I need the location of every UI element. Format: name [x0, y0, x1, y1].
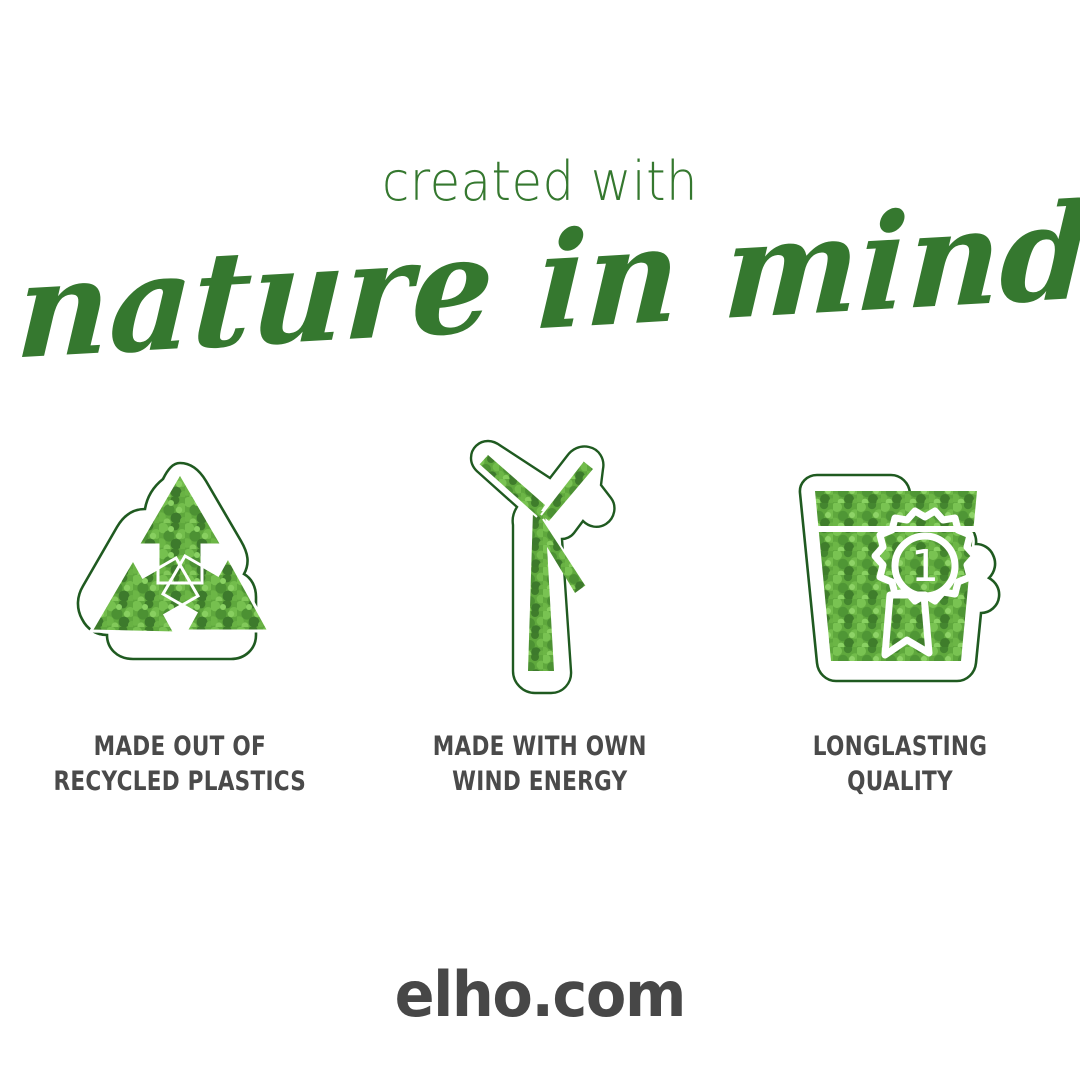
feature-wind-energy: MADE WITH OWN WIND ENERGY: [360, 430, 720, 799]
feature-row: MADE OUT OF RECYCLED PLASTICS: [0, 430, 1080, 850]
wind-turbine-art: [455, 430, 625, 710]
headline-block: created with nature in mind: [0, 155, 1080, 209]
feature-recycled-plastics: MADE OUT OF RECYCLED PLASTICS: [0, 430, 360, 799]
sustainability-banner: created with nature in mind: [0, 0, 1080, 1080]
feature-longlasting-quality: 1 LONGLASTING QUALITY: [720, 430, 1080, 799]
recycle-icon: [55, 445, 305, 695]
headline-script-wrap: nature in mind: [0, 207, 1080, 397]
wind-turbine-icon: [455, 435, 625, 705]
headline-created-with: created with: [43, 155, 1037, 209]
badge-number: 1: [911, 541, 939, 592]
feature-caption-recycled-plastics: MADE OUT OF RECYCLED PLASTICS: [54, 730, 306, 799]
feature-caption-longlasting-quality: LONGLASTING QUALITY: [813, 730, 987, 799]
feature-caption-wind-energy: MADE WITH OWN WIND ENERGY: [433, 730, 647, 799]
recycle-art: [55, 430, 305, 710]
quality-art: 1: [785, 430, 1015, 710]
quality-pot-badge-icon: 1: [785, 455, 1015, 685]
footer: elho.com: [0, 958, 1080, 1031]
elho-site-logo[interactable]: elho.com: [395, 958, 685, 1031]
